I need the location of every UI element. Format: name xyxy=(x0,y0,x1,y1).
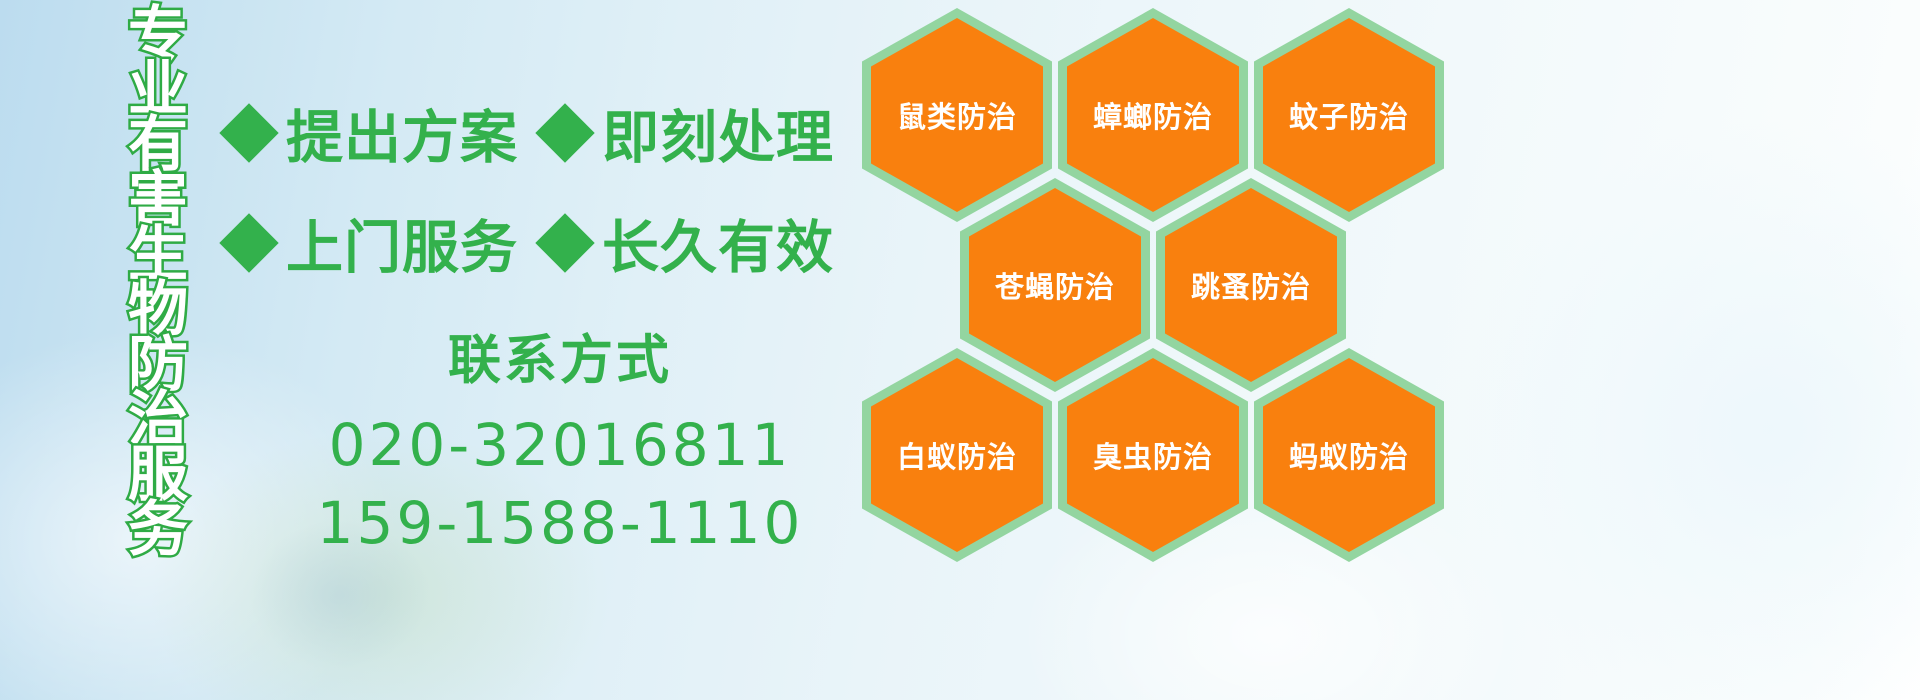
contact-phone-mobile[interactable]: 159-1588-1110 xyxy=(300,484,820,562)
hex-cell-flea-control[interactable]: 跳蚤防治 xyxy=(1156,178,1346,392)
feature-label: 提出方案 xyxy=(286,92,518,174)
diamond-bullet-icon xyxy=(535,213,594,272)
hex-label: 蚊子防治 xyxy=(1289,94,1409,136)
hex-label: 跳蚤防治 xyxy=(1191,264,1311,306)
feature-row: 上门服务 长久有效 xyxy=(228,188,868,298)
contact-heading: 联系方式 xyxy=(300,318,820,394)
diamond-bullet-icon xyxy=(219,103,278,162)
service-honeycomb-grid: 鼠类防治 蟑螂防治 蚊子防治 苍蝇防治 跳蚤防治 白蚁防治 臭虫防治 xyxy=(862,2,1462,562)
vertical-title: 专 业 有 害 生 物 防 治 服 务 xyxy=(106,8,210,568)
hex-cell-termite-control[interactable]: 白蚁防治 xyxy=(862,348,1052,562)
diamond-bullet-icon xyxy=(535,103,594,162)
hex-label: 鼠类防治 xyxy=(897,94,1017,136)
hex-label: 臭虫防治 xyxy=(1093,434,1213,476)
feature-item-immediate: 即刻处理 xyxy=(544,92,834,174)
background-glow-right xyxy=(1460,120,1920,700)
vertical-title-char: 务 xyxy=(128,503,188,558)
hex-cell-fly-control[interactable]: 苍蝇防治 xyxy=(960,178,1150,392)
hex-label: 蚂蚁防治 xyxy=(1289,434,1409,476)
hex-cell-cockroach-control[interactable]: 蟑螂防治 xyxy=(1058,8,1248,222)
pest-control-promo-banner: 专 业 有 害 生 物 防 治 服 务 提出方案 即刻处理 上门服务 xyxy=(0,0,1920,700)
hex-cell-bedbug-control[interactable]: 臭虫防治 xyxy=(1058,348,1248,562)
feature-item-proposal: 提出方案 xyxy=(228,92,518,174)
hex-cell-ant-control[interactable]: 蚂蚁防治 xyxy=(1254,348,1444,562)
hex-cell-mosquito-control[interactable]: 蚊子防治 xyxy=(1254,8,1444,222)
feature-label: 即刻处理 xyxy=(602,92,834,174)
hex-cell-rodent-control[interactable]: 鼠类防治 xyxy=(862,8,1052,222)
contact-phone-landline[interactable]: 020-32016811 xyxy=(300,406,820,484)
feature-label: 上门服务 xyxy=(286,202,518,284)
hex-label: 苍蝇防治 xyxy=(995,264,1115,306)
hex-label: 白蚁防治 xyxy=(897,434,1017,476)
diamond-bullet-icon xyxy=(219,213,278,272)
feature-list: 提出方案 即刻处理 上门服务 长久有效 xyxy=(228,78,868,298)
contact-block: 联系方式 020-32016811 159-1588-1110 xyxy=(300,318,820,562)
hex-label: 蟑螂防治 xyxy=(1093,94,1213,136)
feature-label: 长久有效 xyxy=(602,202,834,284)
feature-item-onsite: 上门服务 xyxy=(228,202,518,284)
feature-row: 提出方案 即刻处理 xyxy=(228,78,868,188)
feature-item-longlasting: 长久有效 xyxy=(544,202,834,284)
